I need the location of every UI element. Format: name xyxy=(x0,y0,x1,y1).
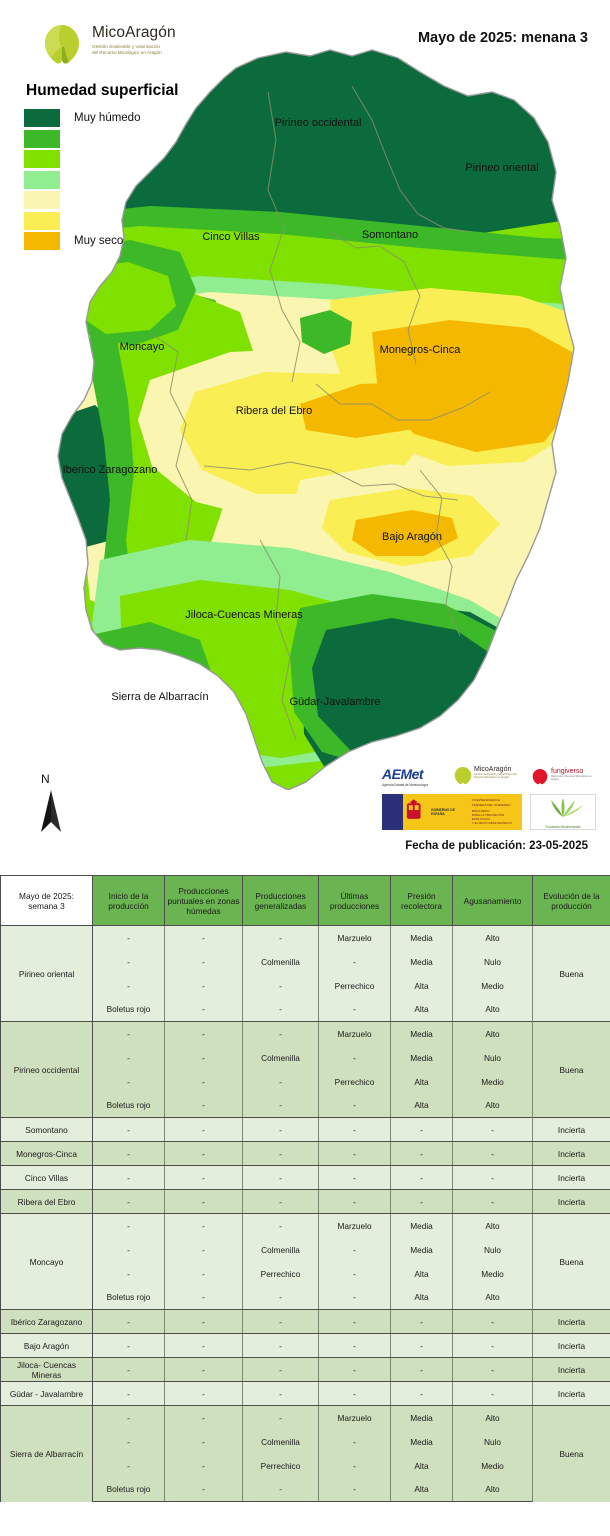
micoaragon-footer-sub: Gestión Sostenible y Valorización del Re… xyxy=(474,773,526,780)
table-evolution-cell: Incierta xyxy=(533,1118,610,1142)
table-row: ---PerrechicoAltaMedio xyxy=(1,1070,610,1094)
table-cell: - xyxy=(319,1382,391,1406)
table-row: Pirineo occidental---MarzueloMediaAltoBu… xyxy=(1,1022,610,1046)
map-label-pirineo-occidental: Pirineo occidental xyxy=(275,117,362,129)
table-cell: - xyxy=(93,974,165,998)
table-cell: - xyxy=(243,998,319,1022)
map-label-jiloca-cuencas-mineras: Jiloca-Cuencas Mineras xyxy=(185,609,302,621)
table-cell: - xyxy=(93,950,165,974)
table-evolution-cell: Incierta xyxy=(533,1310,610,1334)
table-cell: - xyxy=(165,1022,243,1046)
fungiverso-sub: Patrimonio y Recursos Micológicos de Ara… xyxy=(551,775,596,781)
fungiverso-name: fungiverso xyxy=(551,768,596,775)
map-label-cinco-villas: Cinco Villas xyxy=(202,231,259,243)
table-cell: Alto xyxy=(453,1478,533,1502)
table-region-cell: Gúdar - Javalambre xyxy=(1,1382,93,1406)
grass-icon xyxy=(531,795,595,819)
table-cell: Boletus rojo xyxy=(93,1286,165,1310)
table-region-cell: Pirineo oriental xyxy=(1,926,93,1022)
table-corner-header: Mayo de 2025: semana 3 xyxy=(1,876,93,926)
table-cell: Colmenilla xyxy=(243,1238,319,1262)
table-cell: Media xyxy=(391,1406,453,1430)
table-cell: Medio xyxy=(453,1262,533,1286)
table-cell: - xyxy=(93,1214,165,1238)
table-cell: - xyxy=(165,1190,243,1214)
table-cell: - xyxy=(93,1382,165,1406)
table-row: --Colmenilla-MediaNulo xyxy=(1,1238,610,1262)
table-evolution-cell: Incierta xyxy=(533,1358,610,1382)
legend-swatch xyxy=(24,191,60,209)
table-cell: - xyxy=(453,1310,533,1334)
table-cell: Marzuelo xyxy=(319,1022,391,1046)
table-cell: Perrechico xyxy=(319,974,391,998)
table-cell: Media xyxy=(391,1214,453,1238)
table-cell: - xyxy=(165,1430,243,1454)
table-cell: - xyxy=(391,1382,453,1406)
table-row: Boletus rojo---AltaAlto xyxy=(1,1094,610,1118)
legend-row xyxy=(24,190,140,211)
table-cell: - xyxy=(453,1166,533,1190)
map-label-somontano: Somontano xyxy=(362,229,418,241)
table-row: --Colmenilla-MediaNulo xyxy=(1,1046,610,1070)
table-cell: Boletus rojo xyxy=(93,998,165,1022)
col-header-producciones-puntuales: Producciones puntuales en zonas húmedas xyxy=(165,876,243,926)
table-cell: Media xyxy=(391,1046,453,1070)
table-cell: - xyxy=(391,1310,453,1334)
table-cell: - xyxy=(93,1022,165,1046)
table-cell: - xyxy=(165,1118,243,1142)
map-panel: Pirineo occidental Pirineo oriental Cinc… xyxy=(0,0,610,868)
table-cell: - xyxy=(319,1454,391,1478)
table-cell: - xyxy=(391,1190,453,1214)
table-row: Boletus rojo---AltaAlto xyxy=(1,998,610,1022)
table-cell: - xyxy=(243,1022,319,1046)
table-cell: Alto xyxy=(453,926,533,950)
table-cell: - xyxy=(243,926,319,950)
map-label-monegros-cinca: Monegros-Cinca xyxy=(380,344,461,356)
table-region-cell: Jiloca- Cuencas Mineras xyxy=(1,1358,93,1382)
legend-label-muy-seco: Muy seco xyxy=(74,235,123,247)
table-cell: - xyxy=(93,1310,165,1334)
table-cell: - xyxy=(93,1046,165,1070)
aemet-subtitle: Agencia Estatal de Meteorología xyxy=(382,783,438,787)
spain-flag-icon xyxy=(382,794,403,830)
table-cell: - xyxy=(243,1358,319,1382)
table-cell: - xyxy=(165,1334,243,1358)
table-evolution-cell: Incierta xyxy=(533,1382,610,1406)
legend-row: Muy húmedo xyxy=(24,108,140,129)
legend-swatch xyxy=(24,109,60,127)
table-cell: - xyxy=(319,950,391,974)
table-cell: - xyxy=(93,1262,165,1286)
table-evolution-cell: Incierta xyxy=(533,1166,610,1190)
table-cell: - xyxy=(319,1238,391,1262)
table-cell: Alto xyxy=(453,1094,533,1118)
legend-swatch xyxy=(24,212,60,230)
table-cell: - xyxy=(165,1406,243,1430)
table-cell: Colmenilla xyxy=(243,950,319,974)
table-cell: - xyxy=(319,998,391,1022)
table-cell: Colmenilla xyxy=(243,1046,319,1070)
table-cell: - xyxy=(453,1382,533,1406)
table-cell: Marzuelo xyxy=(319,926,391,950)
gobierno-emblem-label: GOBIERNO DE ESPAÑA xyxy=(431,808,469,817)
table-cell: Nulo xyxy=(453,1430,533,1454)
production-status-table: Mayo de 2025: semana 3 Inicio de la prod… xyxy=(0,875,610,1502)
table-cell: - xyxy=(165,1454,243,1478)
table-cell: - xyxy=(165,1070,243,1094)
table-cell: Media xyxy=(391,950,453,974)
table-cell: Marzuelo xyxy=(319,1214,391,1238)
table-cell: Medio xyxy=(453,974,533,998)
legend-title: Humedad superficial xyxy=(26,82,178,100)
map-title: Mayo de 2025: menana 3 xyxy=(418,30,588,46)
table-row: --Colmenilla-MediaNulo xyxy=(1,950,610,974)
table-cell: - xyxy=(93,1070,165,1094)
table-cell: Alta xyxy=(391,974,453,998)
table-cell: - xyxy=(391,1118,453,1142)
col-header-producciones-generalizadas: Producciones generalizadas xyxy=(243,876,319,926)
table-cell: - xyxy=(165,1310,243,1334)
brand-subtitle: Gestión Sostenible y Valorización del Re… xyxy=(92,44,252,56)
table-cell: Perrechico xyxy=(319,1070,391,1094)
table-cell: - xyxy=(165,1286,243,1310)
table-region-cell: Moncayo xyxy=(1,1214,93,1310)
table-cell: Alta xyxy=(391,1070,453,1094)
fungiverso-logo: fungiverso Patrimonio y Recursos Micológ… xyxy=(532,768,596,790)
table-cell: Perrechico xyxy=(243,1262,319,1286)
table-cell: - xyxy=(243,974,319,998)
table-cell: - xyxy=(319,1478,391,1502)
brand-name: MicoAragón xyxy=(92,24,252,42)
table-cell: Medio xyxy=(453,1454,533,1478)
table-region-cell: Cinco Villas xyxy=(1,1166,93,1190)
legend-swatch xyxy=(24,130,60,148)
table-cell: Alta xyxy=(391,1094,453,1118)
table-body: Pirineo oriental---MarzueloMediaAltoBuen… xyxy=(1,926,610,1502)
table-region-cell: Somontano xyxy=(1,1118,93,1142)
table-row: Boletus rojo---AltaAlto xyxy=(1,1478,610,1502)
table-cell: - xyxy=(391,1142,453,1166)
table-row: Boletus rojo---AltaAlto xyxy=(1,1286,610,1310)
table-cell: - xyxy=(243,1382,319,1406)
map-label-ribera-del-ebro: Ribera del Ebro xyxy=(236,405,312,417)
table-cell: Colmenilla xyxy=(243,1430,319,1454)
table-evolution-cell: Buena xyxy=(533,1214,610,1310)
table-cell: Alta xyxy=(391,998,453,1022)
table-cell: - xyxy=(243,1310,319,1334)
table-cell: - xyxy=(165,1094,243,1118)
table-region-cell: Bajo Aragón xyxy=(1,1334,93,1358)
table-cell: - xyxy=(165,1238,243,1262)
table-row: --Perrechico-AltaMedio xyxy=(1,1454,610,1478)
gobierno-de-espana-banner: GOBIERNO DE ESPAÑA VICEPRESIDENCIA TERCE… xyxy=(382,794,522,830)
table-region-cell: Ibérico Zaragozano xyxy=(1,1310,93,1334)
table-cell: - xyxy=(319,1190,391,1214)
footer-logo-strip: AEMet Agencia Estatal de Meteorología Mi… xyxy=(380,762,598,834)
biodiversidad-label: Fundación Biodiversidad xyxy=(531,825,595,829)
table-cell: Boletus rojo xyxy=(93,1094,165,1118)
spain-coat-of-arms-icon xyxy=(403,797,424,827)
legend-row xyxy=(24,170,140,191)
table-cell: - xyxy=(391,1358,453,1382)
table-row: Cinco Villas------Incierta xyxy=(1,1166,610,1190)
table-row: Ibérico Zaragozano------Incierta xyxy=(1,1310,610,1334)
table-cell: - xyxy=(243,1214,319,1238)
table-region-cell: Sierra de Albarracín xyxy=(1,1406,93,1502)
col-header-inicio-produccion: Inicio de la producción xyxy=(93,876,165,926)
table-row: --Colmenilla-MediaNulo xyxy=(1,1430,610,1454)
map-label-pirineo-oriental: Pirineo oriental xyxy=(465,162,538,174)
table-cell: - xyxy=(243,1166,319,1190)
table-row: Bajo Aragón------Incierta xyxy=(1,1334,610,1358)
table-cell: - xyxy=(165,1262,243,1286)
table-cell: - xyxy=(165,974,243,998)
humidity-legend: Muy húmedo Muy seco xyxy=(24,108,140,252)
col-header-presion-recolectora: Presión recolectora xyxy=(391,876,453,926)
table-cell: - xyxy=(165,1214,243,1238)
table-cell: Alta xyxy=(391,1262,453,1286)
table-cell: - xyxy=(391,1334,453,1358)
table-cell: - xyxy=(93,1118,165,1142)
table-cell: Media xyxy=(391,926,453,950)
table-cell: - xyxy=(391,1166,453,1190)
fundacion-biodiversidad-logo: Fundación Biodiversidad xyxy=(530,794,596,830)
table-cell: - xyxy=(319,1430,391,1454)
table-row: ---PerrechicoAltaMedio xyxy=(1,974,610,998)
table-cell: - xyxy=(453,1118,533,1142)
table-row: Ribera del Ebro------Incierta xyxy=(1,1190,610,1214)
table-evolution-cell: Incierta xyxy=(533,1334,610,1358)
table-cell: - xyxy=(319,1262,391,1286)
legend-row xyxy=(24,149,140,170)
table-cell: - xyxy=(93,926,165,950)
table-row: Jiloca- Cuencas Mineras------Incierta xyxy=(1,1358,610,1382)
publication-date: Fecha de publicación: 23-05-2025 xyxy=(405,840,588,852)
legend-row xyxy=(24,211,140,232)
table-cell: - xyxy=(319,1358,391,1382)
table-cell: Media xyxy=(391,1238,453,1262)
table-cell: - xyxy=(319,1310,391,1334)
table-cell: Alto xyxy=(453,1406,533,1430)
table-cell: - xyxy=(319,1142,391,1166)
table-cell: Alta xyxy=(391,1286,453,1310)
table-header-row: Mayo de 2025: semana 3 Inicio de la prod… xyxy=(1,876,610,926)
table-row: Monegros-Cinca------Incierta xyxy=(1,1142,610,1166)
table-evolution-cell: Incierta xyxy=(533,1190,610,1214)
table-region-cell: Pirineo occidental xyxy=(1,1022,93,1118)
table-cell: - xyxy=(93,1430,165,1454)
table-cell: Nulo xyxy=(453,950,533,974)
table-cell: - xyxy=(453,1142,533,1166)
table-region-cell: Ribera del Ebro xyxy=(1,1190,93,1214)
north-arrow-icon: N xyxy=(28,772,74,840)
table-cell: - xyxy=(319,1094,391,1118)
table-row: Pirineo oriental---MarzueloMediaAltoBuen… xyxy=(1,926,610,950)
table-row: Moncayo---MarzueloMediaAltoBuena xyxy=(1,1214,610,1238)
production-status-table-wrapper: Mayo de 2025: semana 3 Inicio de la prod… xyxy=(0,875,610,1502)
table-cell: - xyxy=(243,1478,319,1502)
table-cell: - xyxy=(165,1478,243,1502)
table-cell: Media xyxy=(391,1430,453,1454)
mushroom-logo-icon xyxy=(38,22,86,70)
table-cell: - xyxy=(93,1166,165,1190)
table-cell: - xyxy=(93,1334,165,1358)
aemet-wordmark: AEMet xyxy=(382,766,438,782)
table-cell: Boletus rojo xyxy=(93,1478,165,1502)
table-cell: Media xyxy=(391,1022,453,1046)
table-evolution-cell: Incierta xyxy=(533,1142,610,1166)
map-label-bajo-aragon: Bajo Aragón xyxy=(382,531,442,543)
micoaragon-footer-logo: MicoAragón Gestión Sostenible y Valoriza… xyxy=(454,766,526,790)
table-region-cell: Monegros-Cinca xyxy=(1,1142,93,1166)
aemet-logo: AEMet Agencia Estatal de Meteorología xyxy=(382,766,438,790)
map-label-sierra-de-albarracin: Sierra de Albarracín xyxy=(111,691,208,703)
table-cell: Marzuelo xyxy=(319,1406,391,1430)
table-row: --Perrechico-AltaMedio xyxy=(1,1262,610,1286)
table-cell: - xyxy=(453,1190,533,1214)
legend-swatch xyxy=(24,232,60,250)
table-cell: - xyxy=(165,1142,243,1166)
table-cell: - xyxy=(165,1358,243,1382)
table-cell: Nulo xyxy=(453,1046,533,1070)
table-cell: Alto xyxy=(453,1286,533,1310)
table-cell: - xyxy=(93,1454,165,1478)
table-cell: Nulo xyxy=(453,1238,533,1262)
table-cell: - xyxy=(243,1334,319,1358)
micoaragon-logo: MicoAragón Gestión Sostenible y Valoriza… xyxy=(38,22,268,72)
ministerio-text: VICEPRESIDENCIA TERCERA DEL GOBIERNO MIN… xyxy=(472,798,522,825)
table-cell: - xyxy=(243,1190,319,1214)
table-cell: - xyxy=(243,1406,319,1430)
map-label-moncayo: Moncayo xyxy=(120,341,165,353)
table-evolution-cell: Buena xyxy=(533,1406,610,1502)
table-cell: - xyxy=(93,1358,165,1382)
table-cell: - xyxy=(243,1094,319,1118)
table-cell: Alta xyxy=(391,1454,453,1478)
map-label-iberico-zaragozano: Iberico Zaragozano xyxy=(63,464,158,476)
table-cell: Medio xyxy=(453,1070,533,1094)
table-cell: - xyxy=(319,1334,391,1358)
micoaragon-footer-name: MicoAragón xyxy=(474,766,526,773)
table-cell: - xyxy=(93,1142,165,1166)
table-row: Gúdar - Javalambre------Incierta xyxy=(1,1382,610,1406)
legend-row: Muy seco xyxy=(24,231,140,252)
table-cell: - xyxy=(243,1286,319,1310)
table-cell: Perrechico xyxy=(243,1454,319,1478)
legend-row xyxy=(24,129,140,150)
table-evolution-cell: Buena xyxy=(533,926,610,1022)
legend-swatch xyxy=(24,150,60,168)
table-cell: - xyxy=(165,1046,243,1070)
table-cell: - xyxy=(243,1070,319,1094)
legend-swatch xyxy=(24,171,60,189)
table-evolution-cell: Buena xyxy=(533,1022,610,1118)
table-cell: - xyxy=(453,1358,533,1382)
legend-label-muy-humedo: Muy húmedo xyxy=(74,112,140,124)
table-cell: - xyxy=(243,1142,319,1166)
table-cell: - xyxy=(165,1166,243,1190)
table-cell: - xyxy=(93,1238,165,1262)
table-cell: - xyxy=(319,1046,391,1070)
table-cell: Alto xyxy=(453,998,533,1022)
table-cell: Alto xyxy=(453,1214,533,1238)
table-cell: - xyxy=(165,926,243,950)
table-cell: - xyxy=(165,998,243,1022)
table-row: Sierra de Albarracín---MarzueloMediaAlto… xyxy=(1,1406,610,1430)
map-label-gudar-javalambre: Gúdar-Javalambre xyxy=(289,696,380,708)
table-cell: - xyxy=(93,1406,165,1430)
table-cell: - xyxy=(453,1334,533,1358)
table-cell: - xyxy=(319,1118,391,1142)
table-cell: Alto xyxy=(453,1022,533,1046)
table-cell: - xyxy=(319,1286,391,1310)
col-header-ultimas-producciones: Últimas producciones xyxy=(319,876,391,926)
table-cell: - xyxy=(165,950,243,974)
table-cell: - xyxy=(319,1166,391,1190)
table-row: Somontano------Incierta xyxy=(1,1118,610,1142)
compass-north-label: N xyxy=(41,772,50,786)
col-header-agusanamiento: Agusanamiento xyxy=(453,876,533,926)
table-cell: Alta xyxy=(391,1478,453,1502)
col-header-evolucion-produccion: Evolución de la producción xyxy=(533,876,610,926)
table-cell: - xyxy=(243,1118,319,1142)
table-cell: - xyxy=(93,1190,165,1214)
table-cell: - xyxy=(165,1382,243,1406)
